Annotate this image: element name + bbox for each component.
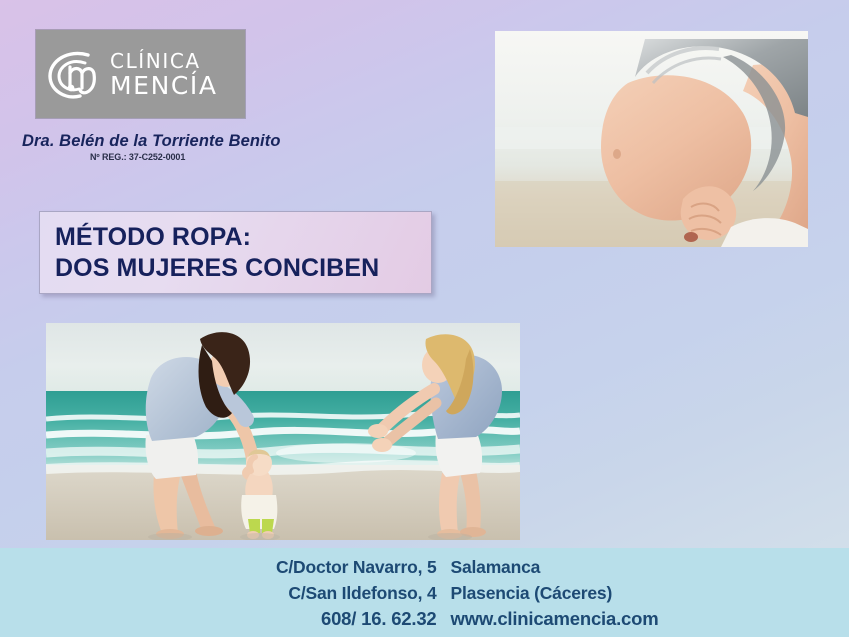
footer-row: C/Doctor Navarro, 5 Salamanca — [0, 554, 849, 580]
cm-monogram-icon — [44, 43, 106, 105]
clinic-logo-wordmark: CLÍNICA MENCÍA — [110, 51, 218, 98]
footer-website-url[interactable]: www.clinicamencia.com — [451, 606, 641, 632]
logo-line-clinica: CLÍNICA — [110, 51, 218, 71]
doctor-name: Dra. Belén de la Torriente Benito — [22, 132, 281, 151]
footer-row: C/San Ildefonso, 4 Plasencia (Cáceres) — [0, 580, 849, 606]
title-line-1: MÉTODO ROPA: — [55, 222, 431, 253]
footer-address-2-city: Plasencia (Cáceres) — [451, 580, 641, 606]
logo-line-mencia: MENCÍA — [110, 73, 218, 98]
footer-address-1-city: Salamanca — [451, 554, 641, 580]
footer-contact-lines: C/Doctor Navarro, 5 Salamanca C/San Ilde… — [0, 548, 849, 632]
footer-address-2-street: C/San Ildefonso, 4 — [209, 580, 451, 606]
footer-address-1-street: C/Doctor Navarro, 5 — [209, 554, 451, 580]
clinic-logo-box: CLÍNICA MENCÍA — [36, 30, 245, 118]
doctor-registration-number: Nº REG.: 37-C252-0001 — [90, 152, 185, 162]
footer-phone-number[interactable]: 608/ 16. 62.32 — [209, 606, 451, 632]
footer-row: 608/ 16. 62.32 www.clinicamencia.com — [0, 606, 849, 632]
slide-title-box: MÉTODO ROPA: DOS MUJERES CONCIBEN — [39, 211, 432, 294]
two-mothers-child-beach-photo — [46, 323, 520, 540]
slide-canvas: CLÍNICA MENCÍA Dra. Belén de la Torrient… — [0, 0, 849, 637]
pregnancy-belly-photo — [495, 31, 808, 247]
footer-contact-band: C/Doctor Navarro, 5 Salamanca C/San Ilde… — [0, 548, 849, 637]
title-line-2: DOS MUJERES CONCIBEN — [55, 253, 431, 284]
